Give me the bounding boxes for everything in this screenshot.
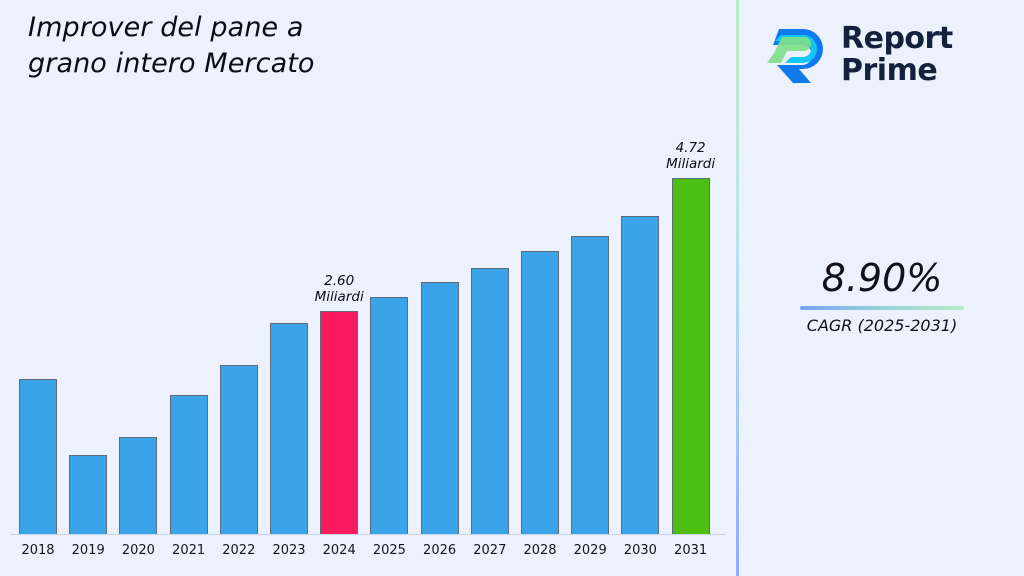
bar-2019 (69, 455, 107, 534)
bar-2026 (421, 282, 459, 534)
cagr-block: 8.90% CAGR (2025-2031) (757, 255, 1007, 336)
chart-panel: Improver del pane a grano intero Mercato… (0, 0, 737, 576)
brand-panel: Report Prime 8.90% CAGR (2025-2031) (739, 0, 1024, 576)
bar-2021 (170, 395, 208, 534)
bar-2023 (270, 323, 308, 534)
x-tick-2031: 2031 (661, 543, 721, 558)
cagr-value: 8.90% (757, 255, 1007, 301)
report-prime-logo-text: Report Prime (841, 23, 953, 87)
x-axis-line (10, 534, 726, 535)
bar-2027 (471, 268, 509, 534)
bar-2031 (672, 178, 710, 534)
report-prime-logo: Report Prime (759, 12, 1009, 98)
bar-value-label-2031: 4.72 Miliardi (636, 140, 746, 172)
bar-value-label-2024: 2.60 Miliardi (284, 273, 394, 305)
bar-2020 (119, 437, 157, 534)
chart-infographic: Improver del pane a grano intero Mercato… (0, 0, 1024, 576)
cagr-caption: CAGR (2025-2031) (757, 316, 1007, 336)
plot-area: 2018201920202021202220232024202520262027… (0, 0, 737, 576)
bar-2018 (19, 379, 57, 534)
bar-2028 (521, 251, 559, 534)
cagr-divider-rule (800, 306, 964, 310)
bar-2024 (320, 311, 358, 534)
bar-2025 (370, 297, 408, 534)
bar-2030 (621, 216, 659, 534)
bar-2022 (220, 365, 258, 534)
report-prime-logo-mark (759, 19, 831, 91)
bar-2029 (571, 236, 609, 534)
